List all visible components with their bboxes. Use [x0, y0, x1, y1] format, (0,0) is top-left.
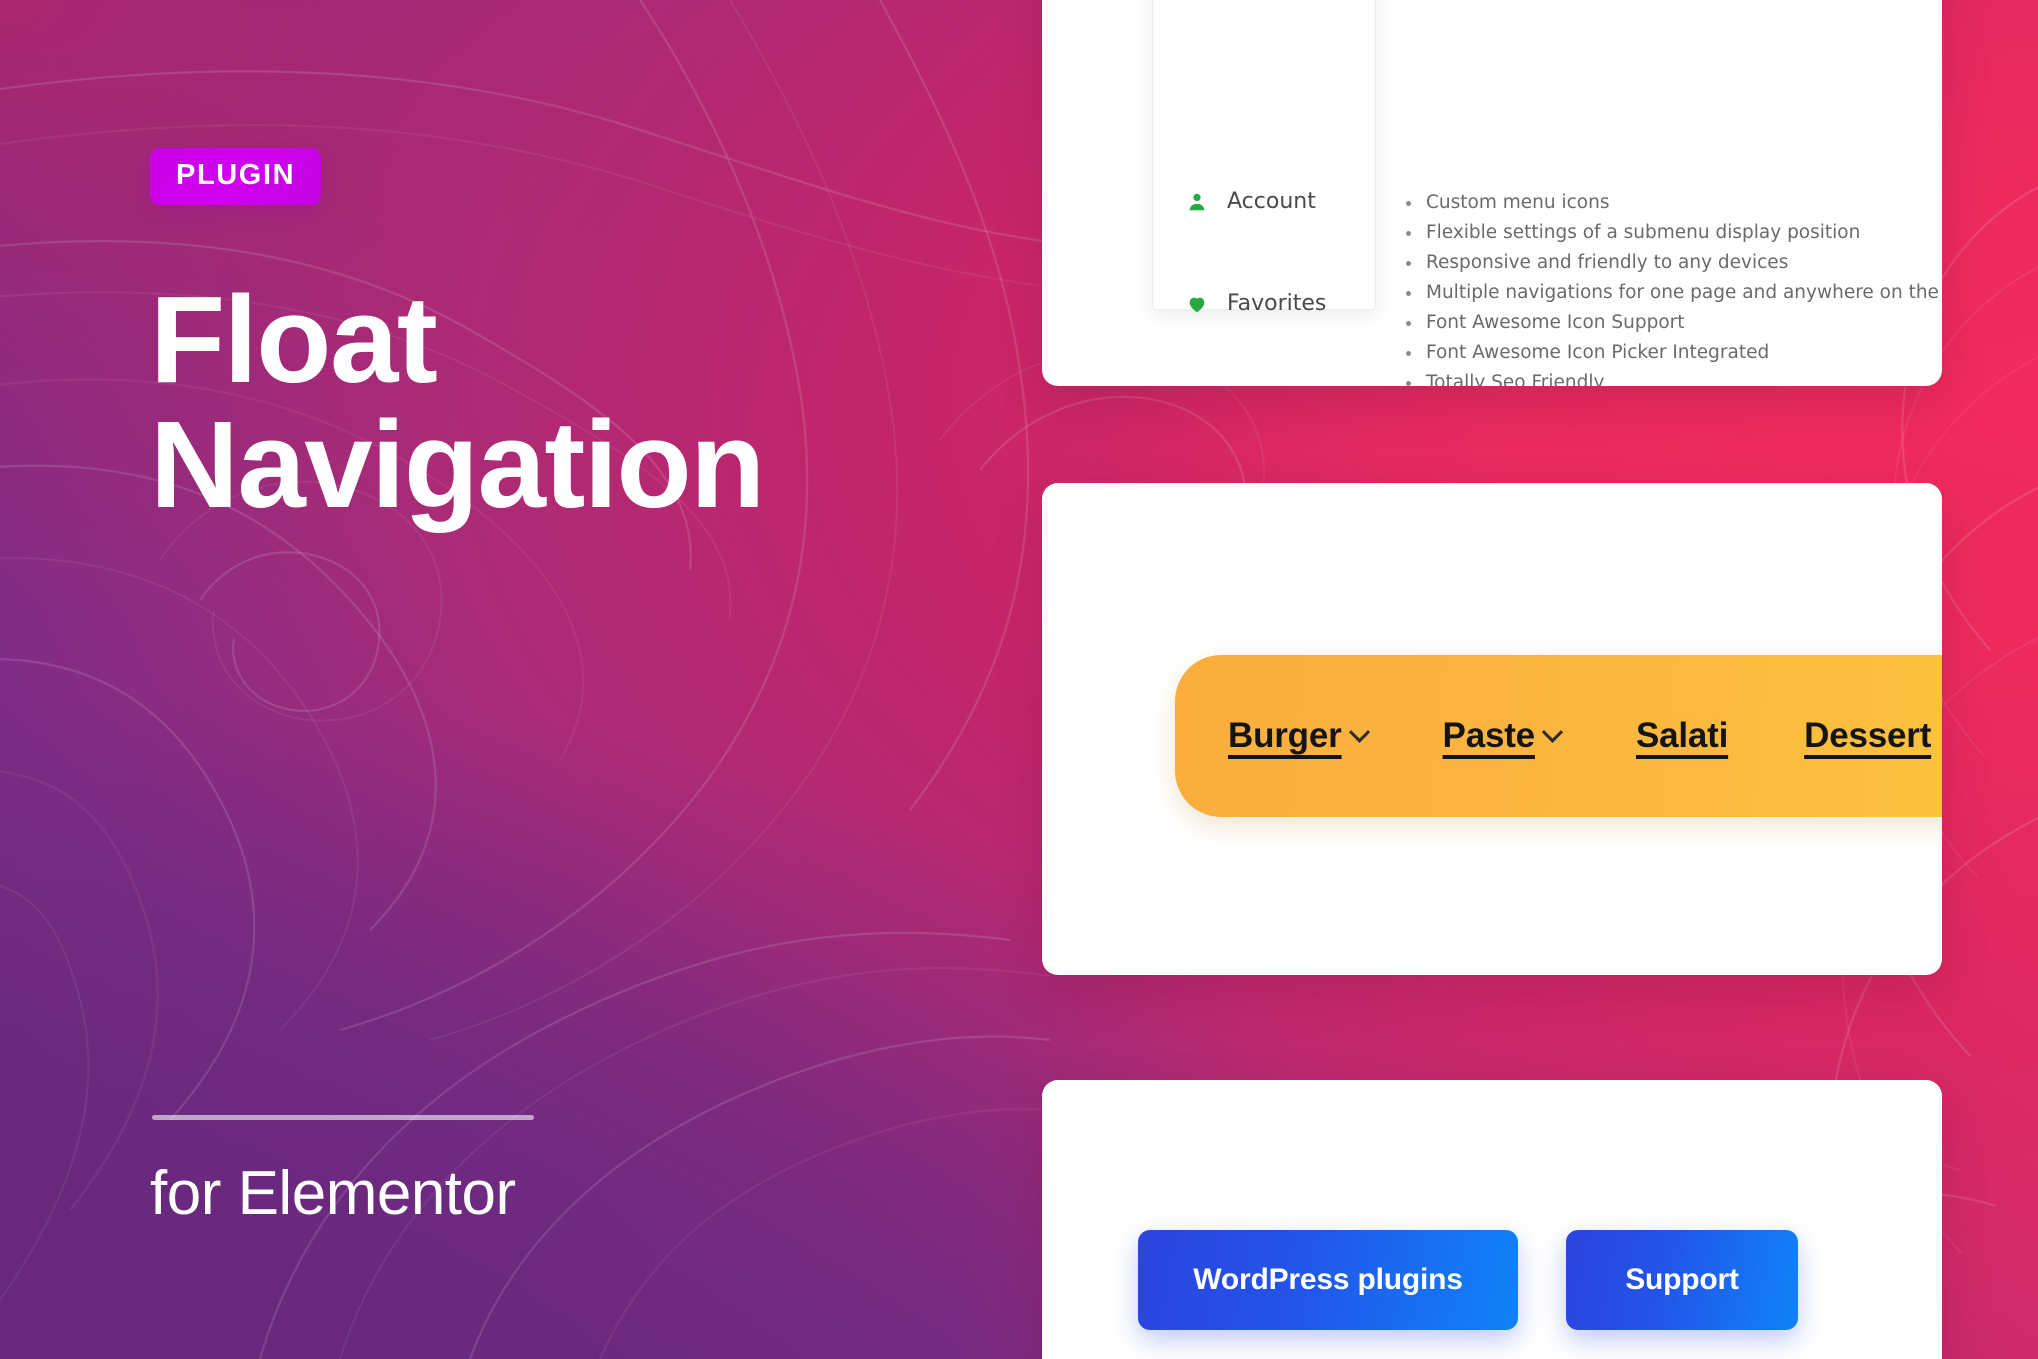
list-item: Totally Seo Friendly: [1402, 368, 1922, 386]
sidebar-item-label: Account: [1227, 189, 1316, 214]
list-item: Font Awesome Icon Picker Integrated: [1402, 338, 1922, 368]
navigation-demo-card: Burger Paste Salati Dessert: [1042, 483, 1942, 975]
support-button[interactable]: Support: [1566, 1230, 1798, 1330]
sidebar-item-favorites[interactable]: Favorites: [1185, 291, 1326, 316]
list-item: Font Awesome Icon Support: [1402, 308, 1922, 338]
list-item: Custom menu icons: [1402, 188, 1922, 218]
nav-item-salati[interactable]: Salati: [1636, 716, 1728, 756]
nav-item-label: Burger: [1228, 716, 1342, 756]
actions-card: WordPress plugins Support: [1042, 1080, 1942, 1359]
nav-item-burger[interactable]: Burger: [1228, 716, 1367, 756]
nav-item-paste[interactable]: Paste: [1443, 716, 1560, 756]
wordpress-plugins-button[interactable]: WordPress plugins: [1138, 1230, 1518, 1330]
title-divider: [152, 1115, 534, 1120]
sidebar-item-label: Favorites: [1227, 291, 1326, 316]
sidebar-item-account[interactable]: Account: [1185, 189, 1316, 214]
chevron-down-icon[interactable]: [1348, 721, 1369, 742]
promo-banner: PLUGIN Float Navigation for Elementor Ac…: [0, 0, 2038, 1359]
features-card: Account Favorites: [1042, 0, 1942, 386]
nav-item-label: Dessert: [1804, 716, 1931, 756]
float-navigation-bar: Burger Paste Salati Dessert: [1175, 655, 1942, 817]
action-button-row: WordPress plugins Support: [1138, 1230, 1798, 1330]
nav-item-label: Salati: [1636, 716, 1728, 756]
heart-icon: [1185, 292, 1209, 316]
nav-item-dessert[interactable]: Dessert: [1804, 716, 1931, 756]
list-item: Responsive and friendly to any devices: [1402, 248, 1922, 278]
page-title: Float Navigation: [150, 278, 764, 529]
plugin-badge: PLUGIN: [150, 148, 321, 205]
chevron-down-icon[interactable]: [1542, 721, 1563, 742]
hero-content: PLUGIN Float Navigation for Elementor: [150, 0, 970, 1359]
list-item: Flexible settings of a submenu display p…: [1402, 218, 1922, 248]
hero-subtitle: for Elementor: [150, 1160, 516, 1228]
list-item: Multiple navigations for one page and an…: [1402, 278, 1922, 308]
nav-item-label: Paste: [1443, 716, 1535, 756]
account-menu-panel[interactable]: Account Favorites: [1152, 0, 1376, 310]
person-icon: [1185, 190, 1209, 214]
feature-list: Custom menu icons Flexible settings of a…: [1402, 188, 1922, 386]
